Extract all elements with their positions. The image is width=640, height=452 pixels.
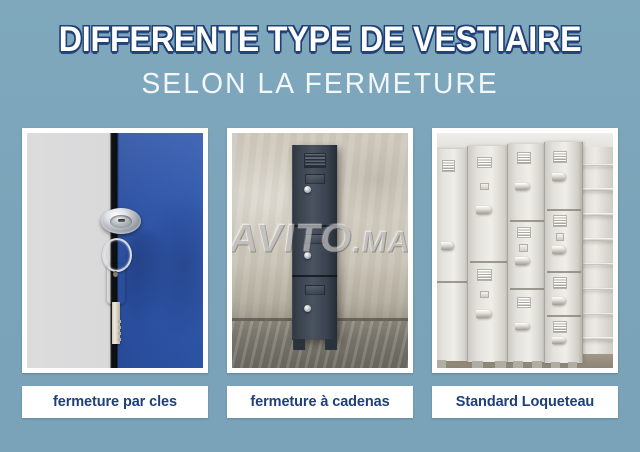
key-drop-shadow [125, 232, 167, 328]
locker-bank [544, 142, 583, 363]
locker-column [292, 145, 338, 340]
photo-frame: AVITO.MA [227, 128, 413, 373]
locker-bank [437, 149, 471, 361]
caption-label: Standard Loqueteau [456, 394, 594, 410]
card-row: fermeture par cles [0, 128, 640, 428]
caption-box: fermeture à cadenas [227, 386, 413, 418]
caption-box: fermeture par cles [22, 386, 208, 418]
page-title: DIFFERENTE TYPE DE VESTIAIRE [59, 22, 582, 57]
caption-label: fermeture par cles [53, 394, 177, 410]
locker-bank [467, 146, 511, 362]
lock-cylinder-icon [101, 208, 141, 236]
locker-bank [507, 144, 548, 363]
blue-locker-door-photo [27, 133, 203, 368]
card-fermeture-par-cles[interactable]: fermeture par cles [22, 128, 208, 373]
card-fermeture-a-cadenas[interactable]: AVITO.MA fermeture à cadenas [227, 128, 413, 373]
poster: DIFFERENTE TYPE DE VESTIAIRE SELON LA FE… [0, 0, 640, 452]
page-subtitle: SELON LA FERMETURE [141, 70, 498, 99]
card-standard-loqueteau[interactable]: Standard Loqueteau [432, 128, 618, 373]
grey-locker-bank-photo [437, 133, 613, 368]
poster-header: DIFFERENTE TYPE DE VESTIAIRE SELON LA FE… [0, 0, 640, 120]
open-shelf-unit [580, 147, 613, 354]
caption-box: Standard Loqueteau [432, 386, 618, 418]
caption-label: fermeture à cadenas [250, 394, 389, 410]
photo-frame [22, 128, 208, 373]
key-icon [107, 264, 125, 304]
photo-frame [432, 128, 618, 373]
tall-dark-locker-photo: AVITO.MA [232, 133, 408, 368]
